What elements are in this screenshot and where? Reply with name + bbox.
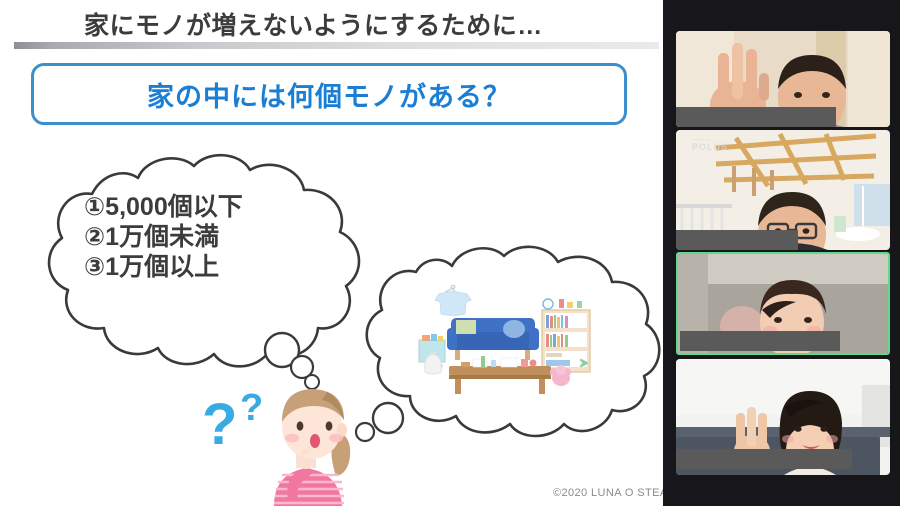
coffee-table-icon	[449, 356, 551, 394]
hanging-shirt-icon	[435, 285, 471, 315]
copyright-text: ©2020 LUNA O STEA	[553, 487, 663, 499]
svg-text:?: ?	[240, 387, 263, 429]
option-2: ②1万個未満	[84, 222, 243, 252]
teddy-bear-icon	[550, 365, 571, 386]
question-box-text: 家の中には何個モノがある？	[34, 66, 624, 122]
participant-name-redaction-1	[676, 107, 836, 127]
alarm-clock-icon	[543, 299, 582, 309]
question-mark-icon: ? ?	[202, 387, 263, 457]
participant-name-redaction-2	[676, 230, 798, 250]
participant-name-redaction-3	[680, 331, 840, 351]
presentation-slide-with-video-panel: 家にモノが増えないようにするために… 家の中には何個モノがある？ ①5,000個…	[0, 0, 900, 506]
video-conference-panel: HOUSING POLUS	[663, 0, 900, 506]
thinking-character-illustration: ? ?	[196, 378, 366, 506]
svg-text:?: ?	[202, 392, 237, 457]
option-3: ③1万個以上	[84, 252, 243, 282]
slide-content-area: 家にモノが増えないようにするために… 家の中には何個モノがある？ ①5,000個…	[0, 0, 663, 506]
participant-name-redaction-4	[676, 449, 852, 469]
polus-watermark: HOUSING POLUS	[692, 138, 728, 152]
video-tile-4[interactable]	[676, 359, 890, 475]
answer-options-list: ①5,000個以下 ②1万個未満 ③1万個以上	[84, 192, 243, 282]
polus-watermark-text: POLUS	[692, 142, 728, 152]
video-tile-3-active-speaker[interactable]	[676, 252, 890, 355]
video-tile-1[interactable]	[676, 31, 890, 127]
living-room-illustration	[415, 282, 600, 397]
page-title: 家にモノが増えないようにするために…	[84, 6, 543, 42]
sofa-icon	[447, 318, 539, 360]
video-tile-2[interactable]: HOUSING POLUS	[676, 130, 890, 250]
option-1: ①5,000個以下	[84, 192, 243, 222]
title-underline-bar	[14, 42, 659, 49]
question-box: 家の中には何個モノがある？	[31, 63, 627, 125]
